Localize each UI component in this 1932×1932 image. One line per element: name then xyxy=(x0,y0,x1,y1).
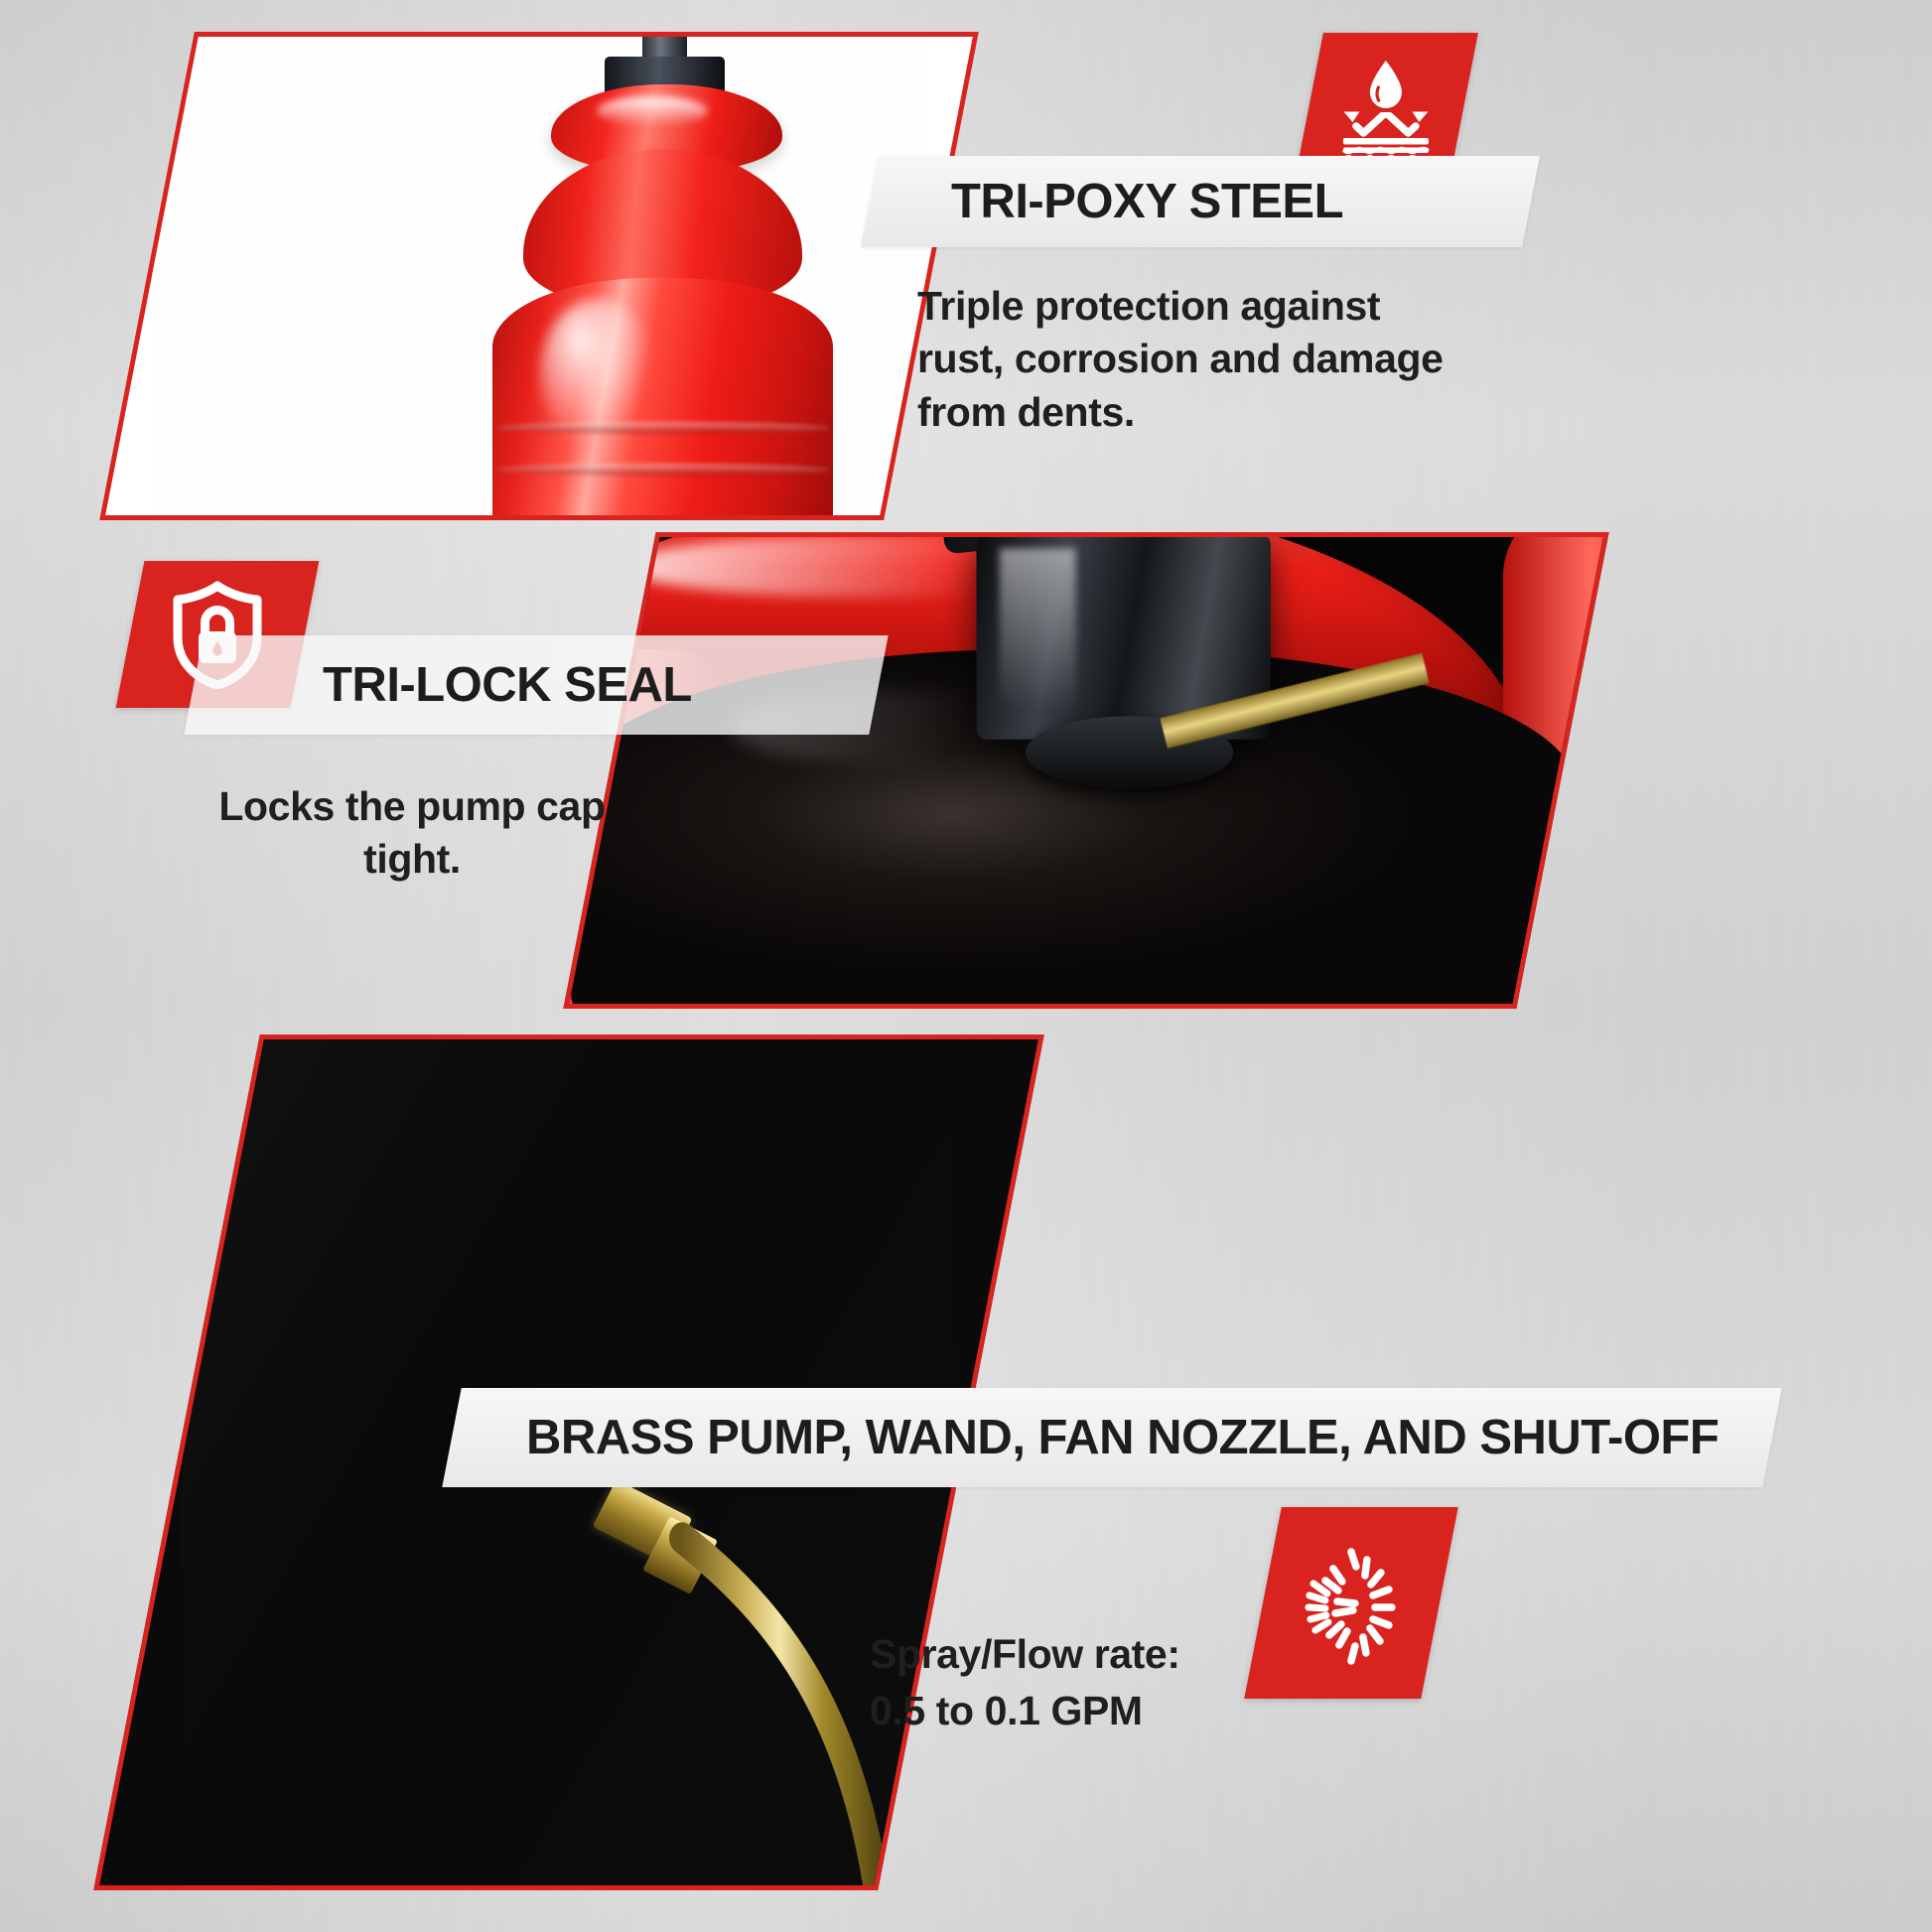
feature-3-body-line-1: Spray/Flow rate: xyxy=(870,1628,1386,1681)
pump-cap-seal-photo xyxy=(563,532,1608,1009)
water-repellent-layers-icon xyxy=(1330,55,1442,164)
feature-1-body-text: Triple protection against rust, corrosio… xyxy=(917,280,1444,439)
sprayer-tank-photo xyxy=(492,84,833,520)
feature-3-body-line-2: 0.5 to 0.1 GPM xyxy=(870,1685,1386,1737)
feature-2-title: TRI-LOCK SEAL xyxy=(323,657,692,713)
feature-1-title-band: TRI-POXY STEEL xyxy=(861,156,1540,247)
feature-3-title: BRASS PUMP, WAND, FAN NOZZLE, AND SHUT-O… xyxy=(526,1410,1719,1465)
feature-2-title-band: TRI-LOCK SEAL xyxy=(184,635,888,735)
feature-1-photo-panel xyxy=(99,32,979,520)
feature-2-body-text: Locks the pump cap tight. xyxy=(213,780,611,887)
feature-1-title: TRI-POXY STEEL xyxy=(951,174,1343,229)
feature-2-photo-panel xyxy=(563,532,1608,1009)
feature-3-title-band: BRASS PUMP, WAND, FAN NOZZLE, AND SHUT-O… xyxy=(442,1388,1781,1487)
infographic-stage: TRI-POXY STEEL Triple protection against… xyxy=(0,0,1932,1932)
